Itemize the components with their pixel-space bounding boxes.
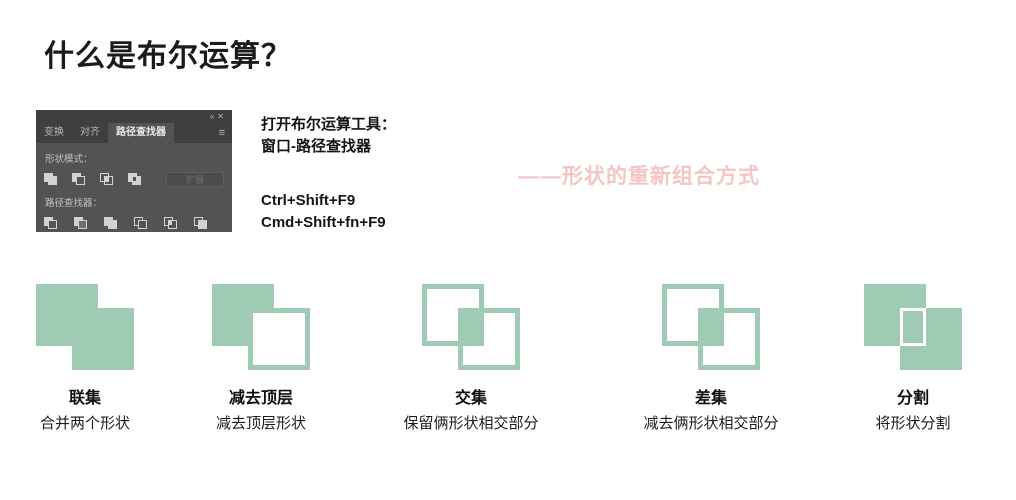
exclude-figure xyxy=(656,282,766,372)
shape-modes-label: 形状模式： xyxy=(45,151,224,165)
exclude-icon xyxy=(128,172,143,186)
operation-divide: 分割 将形状分割 xyxy=(813,282,1013,433)
intersect-icon xyxy=(100,172,115,186)
operation-description: 保留俩形状相交部分 xyxy=(371,412,571,433)
page-title: 什么是布尔运算？ xyxy=(44,31,292,75)
panel-menu-icon[interactable]: ≡ xyxy=(219,123,225,143)
pathfinder-crop-button[interactable] xyxy=(134,215,164,231)
shortcuts-block: Ctrl+Shift+F9 Cmd+Shift+fn+F9 xyxy=(261,190,386,234)
divide-figure xyxy=(858,282,968,372)
pathfinder-outline-button[interactable] xyxy=(164,215,194,231)
subtitle-note: ——形状的重新组合方式 xyxy=(518,160,760,190)
operation-intersect: 交集 保留俩形状相交部分 xyxy=(371,282,571,433)
intersect-overlap-fill xyxy=(458,308,484,346)
expand-button[interactable]: 扩展 xyxy=(166,172,224,187)
tab-transform[interactable]: 变换 xyxy=(36,123,72,143)
operation-label: 联集 xyxy=(0,384,185,408)
pathfinders-row xyxy=(44,215,224,231)
shortcut-mac: Cmd+Shift+fn+F9 xyxy=(261,212,386,234)
outline-icon xyxy=(164,216,179,230)
operation-label: 减去顶层 xyxy=(161,384,361,408)
shape-mode-exclude-button[interactable] xyxy=(128,171,156,187)
divide-separator-line xyxy=(900,308,926,346)
instruction-line-1: 打开布尔运算工具： xyxy=(261,114,396,136)
union-figure xyxy=(30,282,140,372)
operation-minus-front: 减去顶层 减去顶层形状 xyxy=(161,282,361,433)
trim-icon xyxy=(74,216,89,230)
pathfinder-merge-button[interactable] xyxy=(104,215,134,231)
union-square-front xyxy=(72,308,134,370)
pathfinder-panel: «✕ 变换 对齐 路径查找器 ≡ 形状模式： xyxy=(36,110,232,232)
instructions-block: 打开布尔运算工具： 窗口-路径查找器 xyxy=(261,114,396,158)
shortcut-windows: Ctrl+Shift+F9 xyxy=(261,190,386,212)
operation-exclude: 差集 减去俩形状相交部分 xyxy=(611,282,811,433)
panel-tab-bar: 变换 对齐 路径查找器 ≡ xyxy=(36,123,232,143)
intersect-figure xyxy=(416,282,526,372)
instruction-line-2: 窗口-路径查找器 xyxy=(261,136,396,158)
pathfinders-label: 路径查找器： xyxy=(45,195,224,209)
minus-front-figure xyxy=(206,282,316,372)
crop-icon xyxy=(134,216,149,230)
operation-label: 交集 xyxy=(371,384,571,408)
minus-back-icon xyxy=(194,216,209,230)
operation-union: 联集 合并两个形状 xyxy=(0,282,185,433)
tab-align[interactable]: 对齐 xyxy=(72,123,108,143)
boolean-operations-row: 联集 合并两个形状 减去顶层 减去顶层形状 交集 保留俩形状相交部分 差集 减去… xyxy=(0,282,1016,442)
operation-description: 将形状分割 xyxy=(813,412,1013,433)
divide-icon xyxy=(44,216,59,230)
operation-label: 分割 xyxy=(813,384,1013,408)
unite-icon xyxy=(44,172,59,186)
tab-pathfinder[interactable]: 路径查找器 xyxy=(108,123,174,143)
pathfinder-minus-back-button[interactable] xyxy=(194,215,224,231)
close-icon[interactable]: ✕ xyxy=(217,112,227,121)
operation-description: 减去俩形状相交部分 xyxy=(611,412,811,433)
shape-mode-minus-front-button[interactable] xyxy=(72,171,100,187)
operation-label: 差集 xyxy=(611,384,811,408)
shape-mode-unite-button[interactable] xyxy=(44,171,72,187)
panel-titlebar: «✕ xyxy=(36,110,232,123)
panel-body: 形状模式： xyxy=(36,143,232,231)
shape-mode-intersect-button[interactable] xyxy=(100,171,128,187)
pathfinder-trim-button[interactable] xyxy=(74,215,104,231)
operation-description: 减去顶层形状 xyxy=(161,412,361,433)
exclude-overlap-fill xyxy=(698,308,724,346)
panel-window-controls[interactable]: «✕ xyxy=(210,110,227,123)
pathfinder-divide-button[interactable] xyxy=(44,215,74,231)
minus-front-icon xyxy=(72,172,87,186)
operation-description: 合并两个形状 xyxy=(0,412,185,433)
merge-icon xyxy=(104,216,119,230)
shape-modes-row: 扩展 xyxy=(44,171,224,187)
minus-front-square-front xyxy=(248,308,310,370)
